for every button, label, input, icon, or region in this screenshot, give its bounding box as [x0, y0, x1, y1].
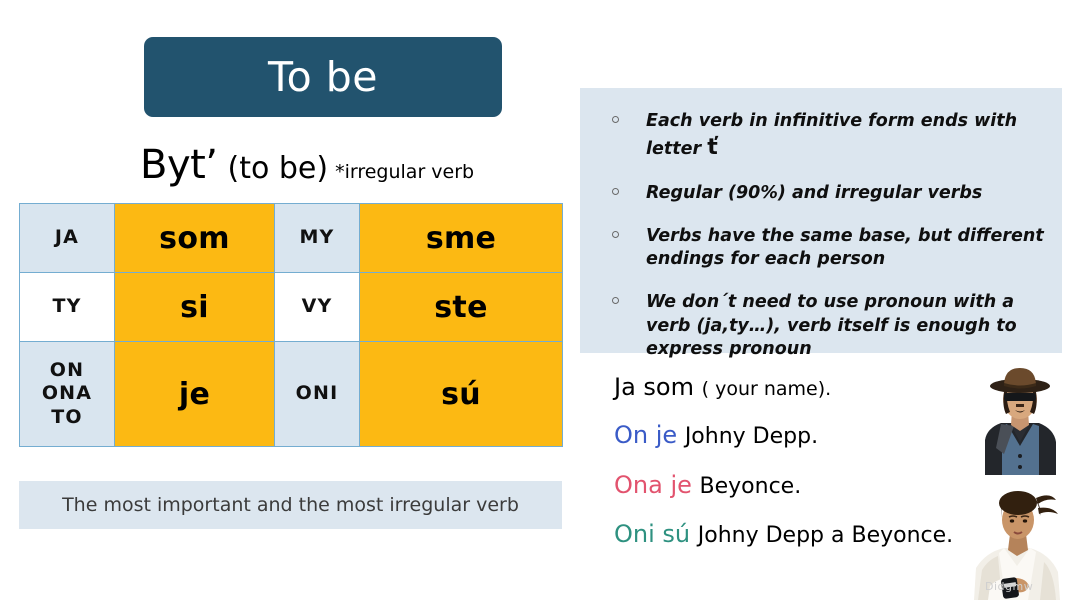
cell-form-plural: sú: [360, 342, 563, 447]
note-text: Regular (90%) and irregular verbs: [646, 183, 982, 203]
example-rest: Beyonce.: [700, 474, 802, 499]
list-item: Each verb in infinitive form ends with l…: [596, 110, 1046, 162]
cell-pronoun-singular: ONONATO: [20, 342, 115, 447]
table-caption: The most important and the most irregula…: [19, 481, 562, 529]
example-rest: Johny Depp.: [685, 424, 818, 449]
example-rest: Johny Depp a Beyonce.: [698, 523, 953, 548]
cell-form-plural: ste: [360, 273, 563, 342]
slide-title-banner: To be: [144, 37, 502, 117]
note-text: Verbs have the same base, but different …: [646, 226, 1044, 269]
table-row: JA som MY sme: [20, 204, 563, 273]
example-line: Ona je Beyonce.: [614, 472, 1014, 499]
notes-panel: Each verb in infinitive form ends with l…: [580, 88, 1062, 353]
cell-pronoun-plural: VY: [275, 273, 360, 342]
circle-bullet-icon: [612, 116, 619, 123]
example-line: On je Johny Depp.: [614, 422, 1014, 449]
cell-form-singular: si: [115, 273, 275, 342]
circle-bullet-icon: [612, 188, 619, 195]
example-rest: ( your name).: [702, 378, 832, 400]
circle-bullet-icon: [612, 297, 619, 304]
cell-form-plural: sme: [360, 204, 563, 273]
verb-translation: (to be): [228, 151, 329, 186]
note-highlight-letter: ť: [707, 135, 718, 160]
example-key: Ona je: [614, 471, 692, 499]
list-item: Regular (90%) and irregular verbs: [596, 182, 1046, 205]
verb-heading: Byt’ (to be) *irregular verb: [140, 142, 560, 192]
example-sentences: Ja som ( your name). On je Johny Depp. O…: [614, 374, 1014, 570]
image-watermark: Didgmw: [985, 580, 1033, 593]
note-text: We don´t need to use pronoun with a verb…: [646, 292, 1017, 358]
list-item: Verbs have the same base, but different …: [596, 225, 1046, 271]
example-key: Ja som: [614, 373, 694, 401]
conjugation-table: JA som MY sme TY si VY ste ONONATO je ON…: [19, 203, 563, 447]
cell-form-singular: je: [115, 342, 275, 447]
photo-johny-depp: [971, 362, 1069, 475]
table-row: ONONATO je ONI sú: [20, 342, 563, 447]
notes-list: Each verb in infinitive form ends with l…: [580, 88, 1062, 361]
example-key: On je: [614, 421, 677, 449]
cell-pronoun-plural: ONI: [275, 342, 360, 447]
example-key: Oni sú: [614, 520, 690, 548]
cell-pronoun-singular: JA: [20, 204, 115, 273]
example-line: Oni sú Johny Depp a Beyonce.: [614, 521, 1014, 548]
example-line: Ja som ( your name).: [614, 374, 1014, 400]
slide-title: To be: [268, 53, 378, 101]
verb-irregular-note: *irregular verb: [335, 161, 474, 183]
cell-pronoun-plural: MY: [275, 204, 360, 273]
note-text: Each verb in infinitive form ends with l…: [646, 111, 1017, 159]
table-row: TY si VY ste: [20, 273, 563, 342]
circle-bullet-icon: [612, 231, 619, 238]
cell-pronoun-singular: TY: [20, 273, 115, 342]
verb-infinitive: Byt’: [140, 142, 218, 188]
cell-form-singular: som: [115, 204, 275, 273]
list-item: We don´t need to use pronoun with a verb…: [596, 291, 1046, 360]
